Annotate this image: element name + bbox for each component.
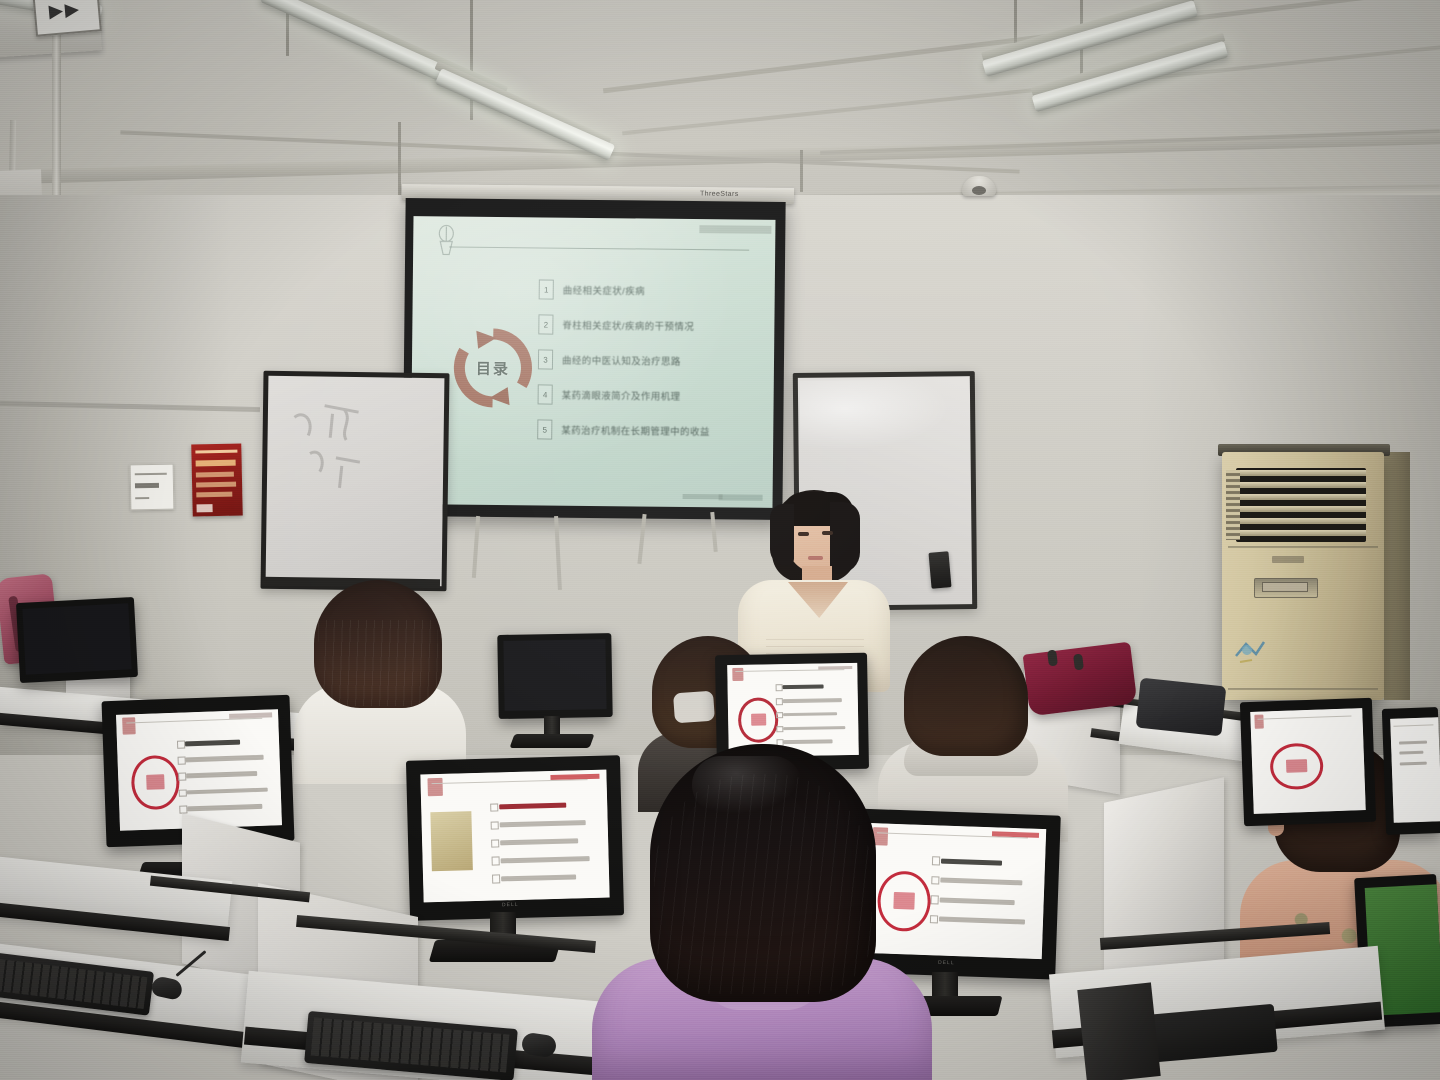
slide-thumbnail: [1390, 717, 1440, 823]
instructor-hair-side: [770, 504, 794, 566]
toc-circular-arrow-icon: [1269, 742, 1324, 791]
light-hanger: [1014, 0, 1017, 48]
projected-slide: 目录 1 曲经相关症状/疾病 2 脊柱相关症状/疾病的干预情况 3 曲经的中医认…: [411, 216, 776, 508]
student-foreground-lavender: [596, 744, 926, 1080]
toc-item-text: 脊柱相关症状/疾病的干预情况: [562, 318, 694, 333]
hair-strands: [318, 620, 438, 706]
monitor-screen-off: [503, 639, 606, 711]
slide-divider: [126, 718, 262, 724]
toc-item: 3 曲经的中医认知及治疗思路: [538, 349, 681, 370]
toc-item-text: 曲经的中医认知及治疗思路: [562, 353, 681, 368]
slide-divider: [432, 779, 588, 784]
slide-thumbnail: [1250, 708, 1365, 814]
monitor-far-right-2-screen[interactable]: [1390, 717, 1440, 823]
toc-circular-arrow-icon: [738, 697, 779, 742]
slide-thumbnail: [420, 770, 609, 903]
toc-item-number: 4: [538, 384, 553, 404]
air-conditioner-display: [1262, 582, 1308, 592]
face-mask: [673, 691, 715, 724]
slide-footer-mark: [683, 494, 723, 499]
toc-item-number: 3: [538, 349, 553, 369]
air-conditioner-side: [1384, 452, 1410, 700]
panel-seam: [1228, 546, 1378, 548]
slide-divider: [449, 246, 749, 250]
classroom-photo: ThreeStars 目录 1 曲经相关症状/疾病 2 脊柱相关症状/疾病的干预…: [0, 0, 1440, 1080]
monitor-brand-label: DELL: [938, 960, 955, 967]
hair-highlight: [692, 756, 802, 814]
instructor-mouth: [808, 556, 823, 560]
slide-divider: [735, 670, 844, 673]
exit-arrow-icon: [32, 0, 102, 37]
air-conditioner-sticker: [1232, 636, 1268, 668]
instructor-hair-side: [830, 502, 860, 574]
slide-thumbnail: [116, 709, 282, 831]
slide-logo-icon: [732, 668, 743, 681]
screen-hanger: [800, 150, 803, 192]
whiteboard-eraser: [928, 551, 951, 589]
slide-logo-icon: [1255, 715, 1264, 730]
whiteboard-glare: [800, 379, 951, 451]
air-conditioner-side-vent: [1226, 470, 1240, 540]
slide-logo-icon: [428, 778, 443, 796]
monitor-center-right-screen[interactable]: [727, 663, 859, 757]
slide-logo-icon: [433, 224, 459, 258]
monitor-center-left-screen[interactable]: [420, 770, 609, 903]
light-hanger: [470, 0, 473, 120]
toc-item-text: 曲经相关症状/疾病: [563, 283, 645, 298]
monitor-base: [509, 734, 594, 748]
toc-item-text: 某药治疗机制在长期管理中的收益: [561, 423, 710, 439]
toc-item-number: 2: [538, 314, 553, 334]
slide-logo-icon: [123, 718, 137, 735]
air-conditioner-logo: [1272, 556, 1304, 563]
monitor-brand-label: DELL: [502, 902, 519, 908]
projector-brand-label: ThreeStars: [700, 188, 790, 201]
dark-bag: [1136, 678, 1227, 737]
white-notice-sign: [130, 464, 175, 511]
toc-item-number: 1: [539, 279, 554, 299]
slide-brand-bar: [699, 225, 771, 234]
toc-item-text: 某药滴眼液简介及作用机理: [562, 388, 681, 403]
handbag-clasp: [1073, 654, 1084, 671]
slide-heading: 目录: [449, 325, 536, 412]
student-hair: [904, 636, 1028, 756]
panel-seam: [1228, 688, 1378, 690]
monitor-left-screen[interactable]: [116, 709, 282, 831]
slide-image-placeholder: [431, 812, 473, 872]
instructor-eye: [822, 531, 833, 535]
monitor-far-right-1-screen[interactable]: [1250, 708, 1365, 814]
slide-thumbnail: [727, 663, 859, 757]
toc-item: 4 某药滴眼液简介及作用机理: [538, 384, 681, 405]
student-left-white-top: [290, 580, 470, 780]
toc-item: 5 某药治疗机制在长期管理中的收益: [537, 419, 710, 441]
toc-circular-arrow-icon: [130, 754, 180, 810]
camera-lens-icon: [972, 186, 986, 195]
ceiling: [0, 0, 1440, 210]
toc-item: 2 脊柱相关症状/疾病的干预情况: [538, 314, 694, 336]
instructor-eye: [798, 532, 809, 536]
air-conditioner-vent: [1236, 468, 1366, 542]
slide-divider: [1257, 716, 1351, 720]
monitor-screen-off: [22, 603, 131, 674]
toc-item-number: 5: [537, 419, 552, 439]
toc-item: 1 曲经相关症状/疾病: [539, 279, 645, 300]
whiteboard-writing: [279, 391, 411, 513]
slide-divider: [1393, 725, 1433, 727]
computer-tower: [1077, 982, 1160, 1080]
red-notice-poster: [191, 443, 242, 516]
